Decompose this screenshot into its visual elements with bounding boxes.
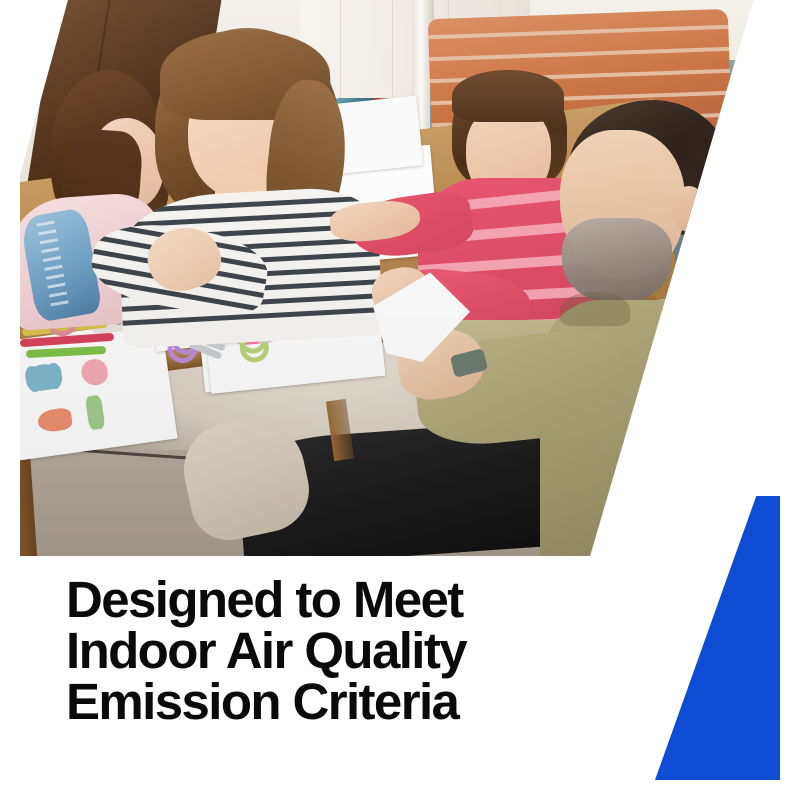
boy-fringe	[452, 70, 564, 122]
man-collar	[560, 292, 630, 326]
page-title: Designed to Meet Indoor Air Quality Emis…	[66, 574, 706, 727]
poster-canvas: Designed to Meet Indoor Air Quality Emis…	[0, 0, 800, 800]
man-beard	[562, 218, 672, 304]
headline-line-2: Indoor Air Quality	[66, 625, 706, 676]
headline-line-3: Emission Criteria	[66, 676, 706, 727]
hero-photo	[0, 0, 800, 556]
bird-drawing	[36, 407, 73, 434]
stem-drawing	[85, 395, 106, 431]
photo-scene	[0, 0, 800, 556]
flower-drawing	[80, 358, 109, 387]
man-ear	[672, 186, 706, 232]
headline-line-1: Designed to Meet	[66, 574, 706, 625]
butterfly-drawing	[24, 362, 63, 393]
